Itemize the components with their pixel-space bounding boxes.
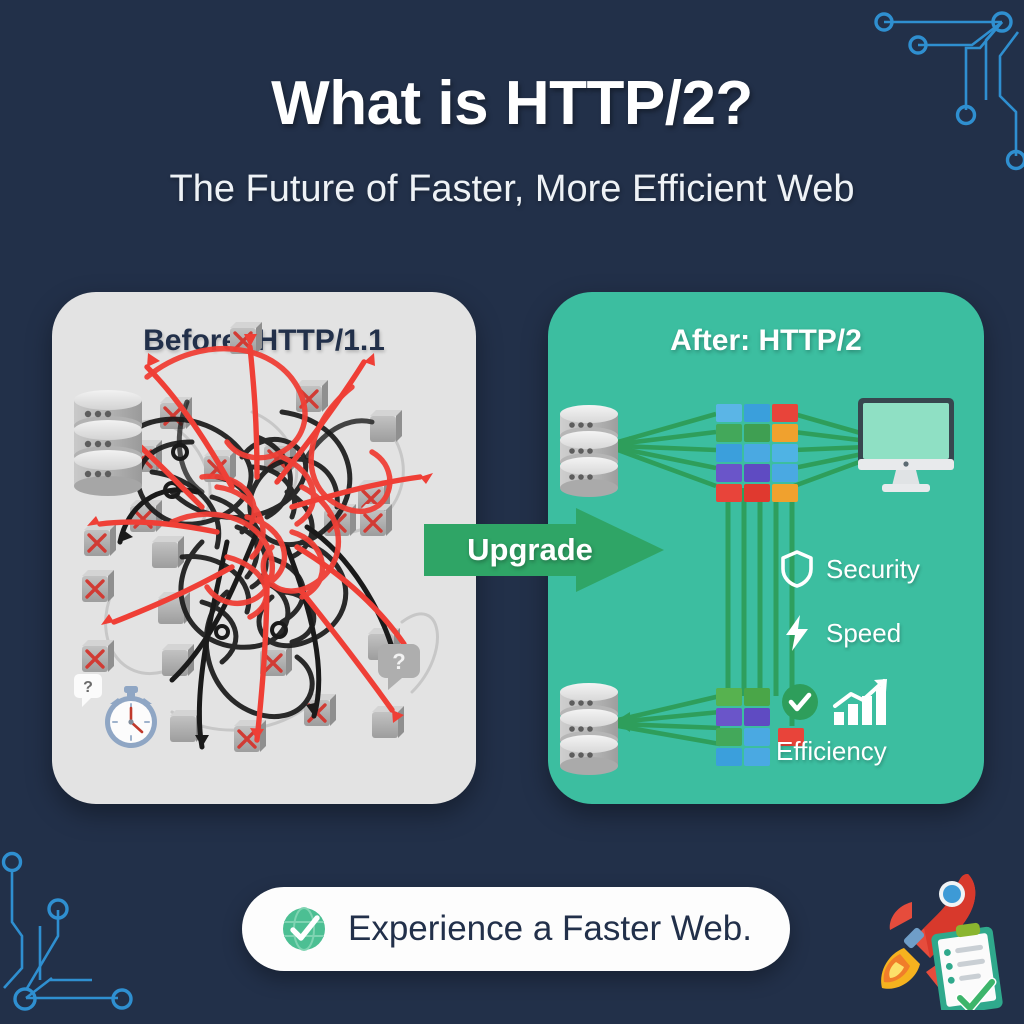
- page-title: What is HTTP/2?: [0, 68, 1024, 139]
- upgrade-arrow-shape: [424, 508, 664, 592]
- packet-stream-icon: [716, 404, 798, 502]
- feature-speed-label: Speed: [826, 618, 901, 649]
- circuit-decoration-bottom-left: [0, 840, 170, 1024]
- panel-before-http11: Before: HTTP/1.1: [52, 292, 476, 804]
- lightning-bolt-icon: [780, 614, 814, 652]
- feature-efficiency-label: Efficiency: [776, 736, 966, 767]
- database-icon: [560, 405, 618, 497]
- upgrade-arrow[interactable]: Upgrade: [424, 508, 664, 592]
- database-icon: [560, 683, 618, 775]
- svg-text:?: ?: [83, 679, 93, 696]
- page-subtitle: The Future of Faster, More Efficient Web: [0, 168, 1024, 211]
- feature-security: Security: [780, 550, 962, 588]
- feature-list: Security Speed: [780, 550, 962, 752]
- monitor-icon: [858, 398, 954, 492]
- feature-security-label: Security: [826, 554, 920, 585]
- feature-efficiency: Efficiency: [780, 678, 962, 726]
- rocket-clipboard-decoration: [858, 868, 1018, 1010]
- infographic-canvas: What is HTTP/2? The Future of Faster, Mo…: [0, 0, 1024, 1024]
- stopwatch-icon: [105, 686, 157, 748]
- cta-text: Experience a Faster Web.: [348, 909, 752, 949]
- check-circle-icon: [780, 682, 820, 722]
- feature-speed: Speed: [780, 614, 962, 652]
- globe-check-icon: [280, 905, 328, 953]
- question-bubble-icon: ?: [378, 644, 420, 690]
- chaotic-network-illustration: ? ?: [52, 292, 476, 804]
- shield-icon: [780, 550, 814, 588]
- svg-text:?: ?: [392, 649, 405, 674]
- database-icon: [74, 390, 142, 496]
- growth-chart-icon: [832, 678, 894, 726]
- question-bubble-icon: ?: [74, 674, 102, 707]
- clipboard-checklist-icon: [931, 922, 1004, 1010]
- cta-banner[interactable]: Experience a Faster Web.: [242, 887, 790, 971]
